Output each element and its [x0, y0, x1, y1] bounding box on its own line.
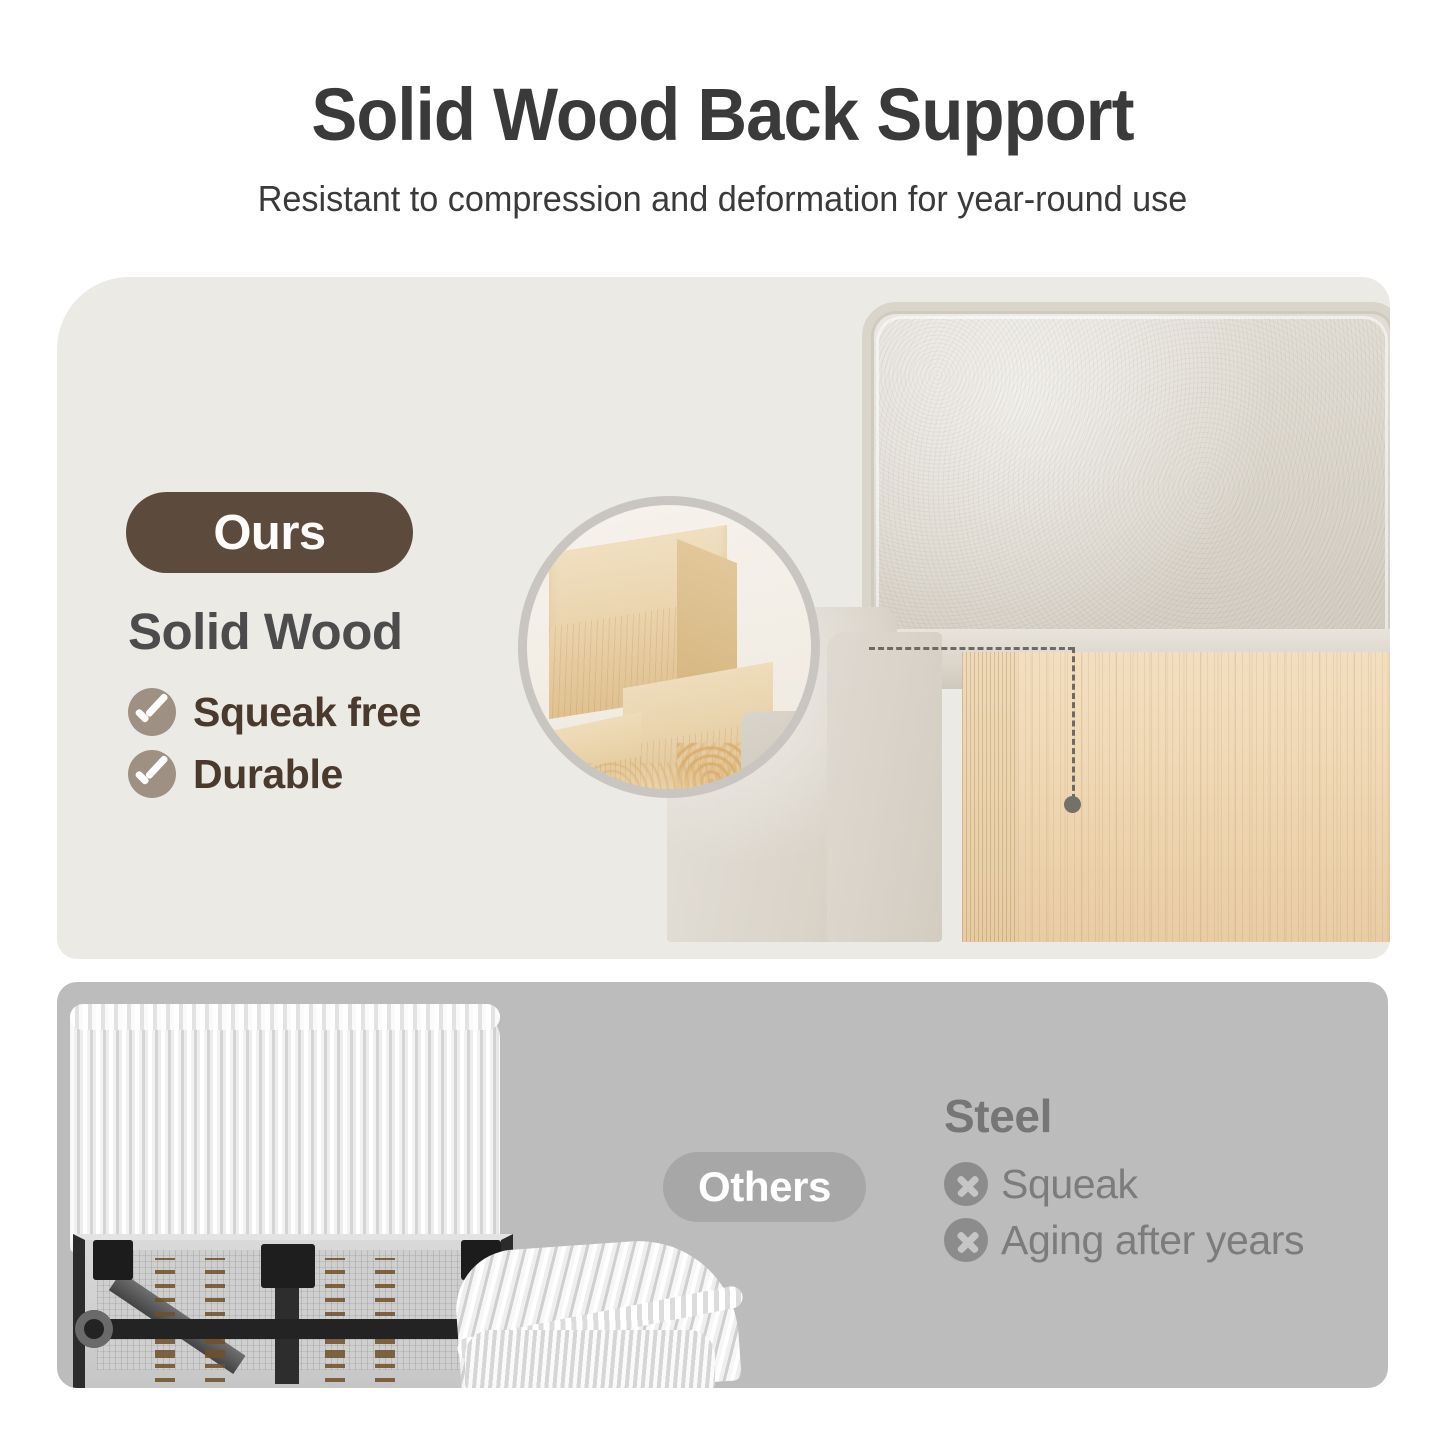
cross-icon [944, 1162, 988, 1206]
callout-line-horizontal [869, 647, 1074, 650]
fabric-corner-in-circle [741, 711, 820, 798]
list-item: Squeak free [128, 681, 421, 743]
wood-blocks-zoom-circle [518, 496, 820, 798]
steel-bracket-left [93, 1240, 133, 1280]
zigzag-spring [325, 1338, 345, 1388]
corduroy-cushion-welt [70, 1004, 500, 1030]
sofa-back-cushion-image [862, 302, 1390, 647]
ours-material-label: Solid Wood [128, 602, 403, 661]
others-feature-label: Squeak [1001, 1161, 1138, 1208]
sofa-arm-side-image [827, 632, 942, 942]
others-feature-label: Aging after years [1001, 1217, 1304, 1264]
solid-wood-board-image [962, 652, 1390, 942]
wood-edge-grain [962, 652, 1018, 942]
corduroy-seat-image [465, 1330, 715, 1388]
corduroy-cushion-image [70, 1012, 500, 1252]
steel-crossbar [77, 1319, 509, 1339]
list-item: Durable [128, 743, 421, 805]
page-title: Solid Wood Back Support [51, 72, 1395, 157]
callout-line-vertical [1072, 647, 1075, 800]
others-feature-list: Squeak Aging after years [944, 1156, 1304, 1268]
others-badge: Others [663, 1152, 866, 1222]
others-badge-label: Others [698, 1163, 831, 1211]
zigzag-spring [205, 1338, 225, 1388]
ours-feature-list: Squeak free Durable [128, 681, 421, 805]
steel-center-bracket [261, 1244, 315, 1288]
zigzag-spring [375, 1338, 395, 1388]
steel-crossbar-left-joint [75, 1310, 113, 1348]
ours-feature-label: Squeak free [193, 689, 421, 736]
list-item: Squeak [944, 1156, 1304, 1212]
header: Solid Wood Back Support Resistant to com… [0, 0, 1445, 260]
ours-badge-label: Ours [213, 505, 325, 561]
ours-badge: Ours [126, 492, 413, 573]
check-icon [128, 750, 176, 798]
ours-feature-label: Durable [193, 751, 343, 798]
check-icon [128, 688, 176, 736]
list-item: Aging after years [944, 1212, 1304, 1268]
cross-icon [944, 1218, 988, 1262]
callout-dot-marker [1064, 796, 1081, 813]
others-material-label: Steel [944, 1089, 1052, 1143]
page-subtitle: Resistant to compression and deformation… [36, 178, 1409, 220]
zigzag-spring [155, 1338, 175, 1388]
